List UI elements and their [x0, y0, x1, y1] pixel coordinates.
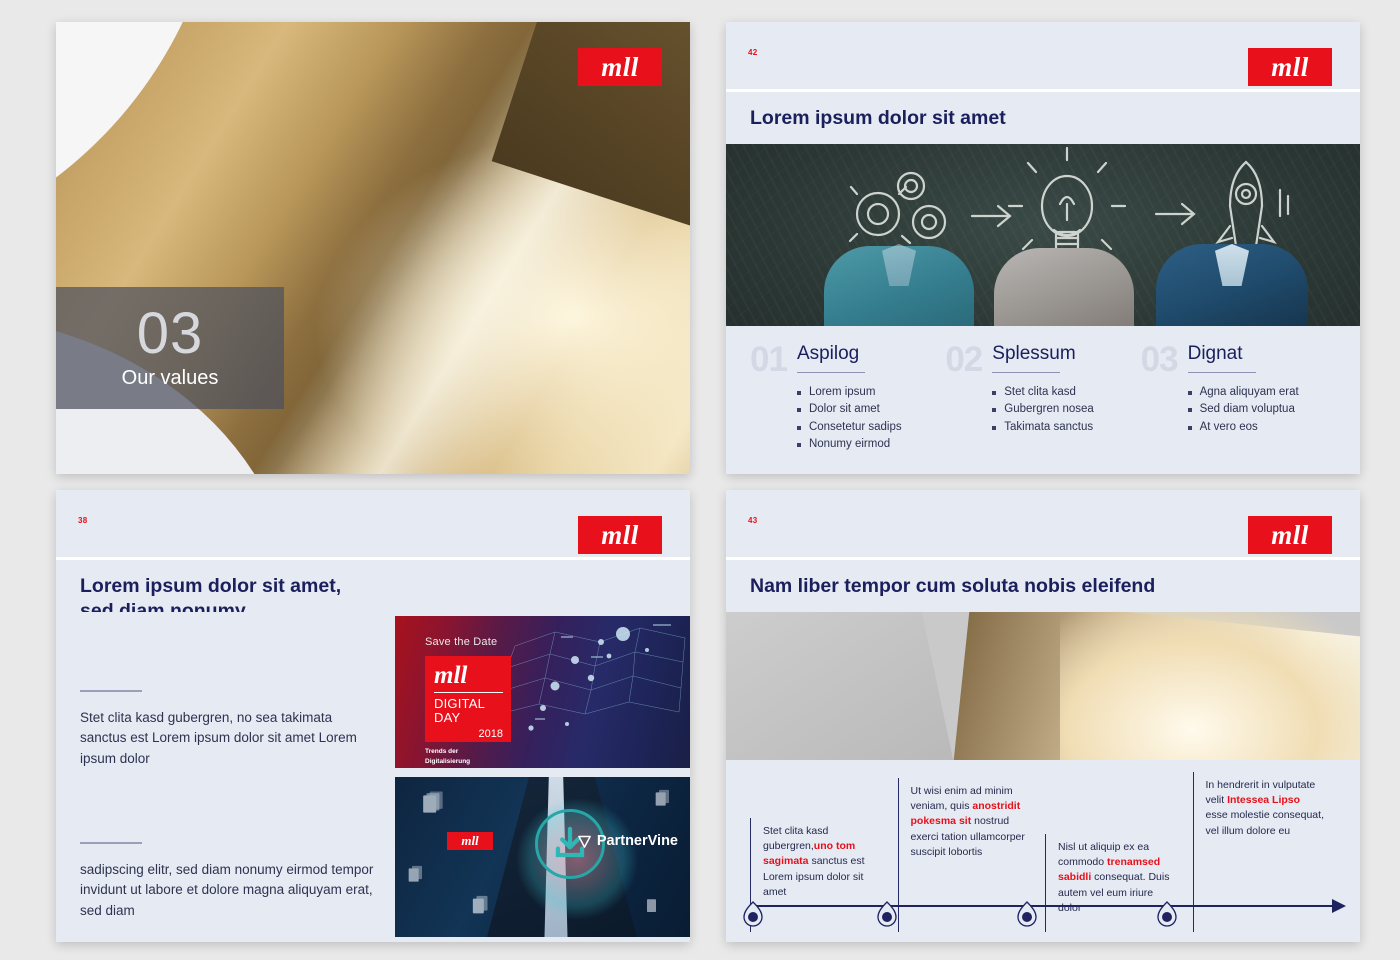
digital-day-line1: DIGITAL: [434, 697, 503, 711]
digital-day-line2: DAY: [434, 711, 503, 725]
list-item: Agna aliquyam erat: [1188, 384, 1326, 401]
gold-abstract-image: [726, 612, 1360, 760]
mll-logo: mll: [578, 516, 662, 554]
list-item: Lorem ipsum: [797, 384, 935, 401]
digital-day-year: 2018: [434, 728, 503, 740]
slide-title: Lorem ipsum dolor sit amet: [750, 106, 1006, 131]
title-band: Lorem ipsum dolor sit amet: [726, 92, 1360, 144]
column-heading: Splessum: [992, 344, 1130, 363]
timeline-pin-marker: [1016, 900, 1038, 928]
mll-logo: mll: [1248, 516, 1332, 554]
list-item: Takimata sanctus: [992, 419, 1130, 436]
partnervine-label: PartnerVine: [597, 833, 678, 849]
save-the-date-label: Save the Date: [425, 636, 497, 648]
page-number: 38: [78, 516, 88, 525]
timeline-item: Ut wisi enim ad minim veniam, quis anost…: [898, 778, 1046, 896]
column-list: Stet clita kasd Gubergren nosea Takimata…: [992, 384, 1130, 436]
documents-icon: [654, 789, 674, 809]
column-item: 02 Splessum Stet clita kasd Gubergren no…: [945, 344, 1140, 474]
mll-logo: mll: [578, 48, 662, 86]
timeline-pin-marker: [1156, 900, 1178, 928]
slide-media[interactable]: 38 mll Lorem ipsum dolor sit amet, sed d…: [56, 490, 690, 942]
heading-rule: [992, 372, 1060, 373]
timeline-pin-marker: [742, 900, 764, 928]
mll-logo: mll: [434, 663, 503, 688]
digital-day-badge: mll DIGITAL DAY 2018: [425, 656, 511, 742]
timeline-pin-marker: [876, 900, 898, 928]
timeline-item: Stet clita kasd gubergren,uno tom sagima…: [750, 778, 898, 896]
digital-day-tagline: Trends der Digitalisierung: [425, 747, 470, 767]
chalkboard-team-image: [726, 144, 1360, 326]
timeline-axis: [750, 905, 1340, 907]
list-item: Sed diam voluptua: [1188, 401, 1326, 418]
page-number: 42: [748, 48, 758, 57]
column-item: 03 Dignat Agna aliquyam erat Sed diam vo…: [1141, 344, 1336, 474]
column-index: 03: [1141, 344, 1178, 474]
paragraph-block-2: sadipscing elitr, sed diam nonumy eirmod…: [80, 842, 380, 922]
title-band: Nam liber tempor cum soluta nobis eleife…: [726, 560, 1360, 612]
mll-logo: mll: [447, 832, 493, 850]
slide-title-line1: Lorem ipsum dolor sit amet,: [80, 575, 341, 597]
slide-three-columns[interactable]: 42 mll Lorem ipsum dolor sit amet: [726, 22, 1360, 474]
promo-digital-day[interactable]: Save the Date mll DIGITAL DAY 2018 Trend…: [395, 616, 690, 768]
column-heading: Dignat: [1188, 344, 1326, 363]
column-list: Agna aliquyam erat Sed diam voluptua At …: [1188, 384, 1326, 436]
tagline-line1: Trends der: [425, 747, 470, 757]
slide-our-values[interactable]: mll 03 Our values: [56, 22, 690, 474]
paragraph-text: Stet clita kasd gubergren, no sea takima…: [80, 708, 380, 771]
documents-icon: [644, 897, 662, 915]
tagline-line2: Digitalisierung: [425, 757, 470, 767]
mll-logo: mll: [1248, 48, 1332, 86]
section-marker-box: 03 Our values: [56, 287, 284, 409]
timeline-text: In hendrerit in vulputate velit Intessea…: [1206, 778, 1325, 839]
timeline-columns: Stet clita kasd gubergren,uno tom sagima…: [750, 778, 1340, 896]
timeline-text: Stet clita kasd gubergren,uno tom sagima…: [763, 824, 882, 900]
partnervine-mark-icon: [577, 834, 592, 849]
list-item: Dolor sit amet: [797, 401, 935, 418]
timeline-text: Ut wisi enim ad minim veniam, quis anost…: [911, 784, 1030, 860]
timeline-item: Nisl ut aliquip ex ea commodo trenamsed …: [1045, 778, 1193, 896]
documents-icon: [471, 895, 493, 917]
paragraph-rule: [80, 842, 142, 844]
paragraph-text: sadipscing elitr, sed diam nonumy eirmod…: [80, 860, 380, 923]
column-heading: Aspilog: [797, 344, 935, 363]
slide-deck-canvas: mll 03 Our values 42 mll Lorem ipsum dol…: [0, 0, 1400, 960]
list-item: Nonumy eirmod: [797, 436, 935, 453]
page-number: 43: [748, 516, 758, 525]
slide-timeline[interactable]: 43 mll Nam liber tempor cum soluta nobis…: [726, 490, 1360, 942]
column-index: 02: [945, 344, 982, 474]
list-item: At vero eos: [1188, 419, 1326, 436]
timeline-item: In hendrerit in vulputate velit Intessea…: [1193, 778, 1341, 896]
column-list: Lorem ipsum Dolor sit amet Consetetur sa…: [797, 384, 935, 454]
heading-rule: [797, 372, 865, 373]
promo-partnervine[interactable]: mll PartnerVine: [395, 777, 690, 937]
list-item: Gubergren nosea: [992, 401, 1130, 418]
list-item: Stet clita kasd: [992, 384, 1130, 401]
list-item: Consetetur sadips: [797, 419, 935, 436]
column-index: 01: [750, 344, 787, 474]
documents-icon: [421, 791, 447, 817]
paragraph-block-1: Stet clita kasd gubergren, no sea takima…: [80, 690, 380, 770]
timeline-area: Stet clita kasd gubergren,uno tom sagima…: [726, 760, 1360, 942]
timeline-arrow-head: [1332, 899, 1346, 913]
columns-container: 01 Aspilog Lorem ipsum Dolor sit amet Co…: [726, 326, 1360, 474]
section-number: 03: [137, 306, 204, 361]
paragraph-rule: [80, 690, 142, 692]
column-item: 01 Aspilog Lorem ipsum Dolor sit amet Co…: [750, 344, 945, 474]
slide-title: Nam liber tempor cum soluta nobis eleife…: [750, 574, 1155, 599]
section-label: Our values: [122, 367, 219, 390]
heading-rule: [1188, 372, 1256, 373]
documents-icon: [407, 865, 427, 885]
partnervine-brand: PartnerVine: [577, 833, 678, 849]
